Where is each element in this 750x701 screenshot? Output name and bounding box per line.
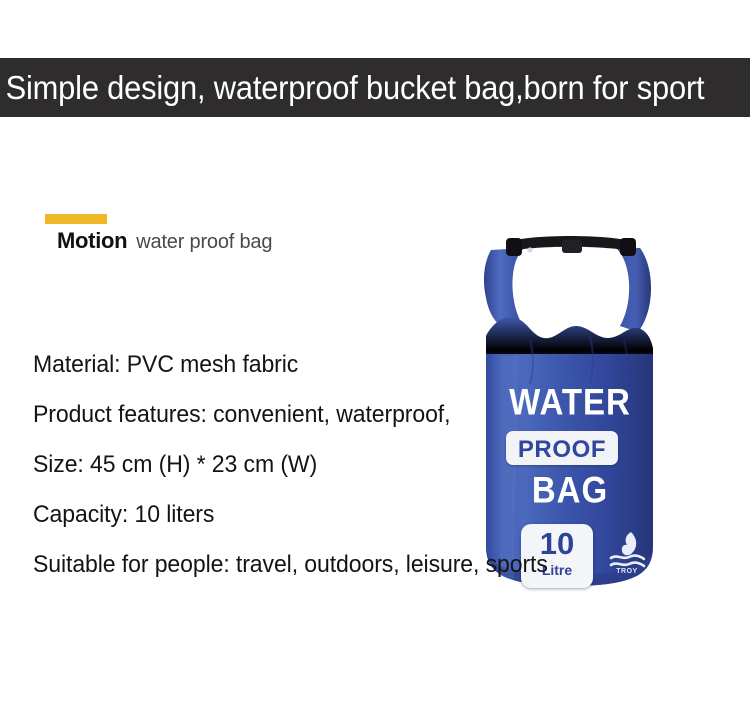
bag-roll-left (484, 248, 524, 328)
bag-roll-right (616, 248, 651, 332)
product-detail-image: Simple design, waterproof bucket bag,bor… (0, 0, 750, 701)
bag-strap-rivet (527, 247, 532, 252)
spec-line-material: Material: PVC mesh fabric (33, 340, 609, 390)
bag-buckle-right (620, 238, 636, 256)
headline-banner: Simple design, waterproof bucket bag,bor… (0, 58, 750, 117)
headline-text: Simple design, waterproof bucket bag,bor… (0, 71, 704, 104)
spec-line-size: Size: 45 cm (H) * 23 cm (W) (33, 440, 609, 490)
spec-list: Material: PVC mesh fabric Product featur… (33, 340, 633, 590)
brand-accent-bar (45, 214, 107, 224)
brand-tagline: water proof bag (136, 231, 272, 254)
brand-block: Motion water proof bag (45, 214, 465, 254)
spec-line-capacity: Capacity: 10 liters (33, 490, 609, 540)
spec-line-audience: Suitable for people: travel, outdoors, l… (33, 540, 609, 590)
bag-buckle-left (506, 238, 522, 256)
brand-line: Motion water proof bag (57, 228, 465, 254)
bag-buckle-center (562, 240, 582, 253)
spec-line-features: Product features: convenient, waterproof… (33, 390, 609, 440)
brand-name: Motion (57, 228, 127, 254)
